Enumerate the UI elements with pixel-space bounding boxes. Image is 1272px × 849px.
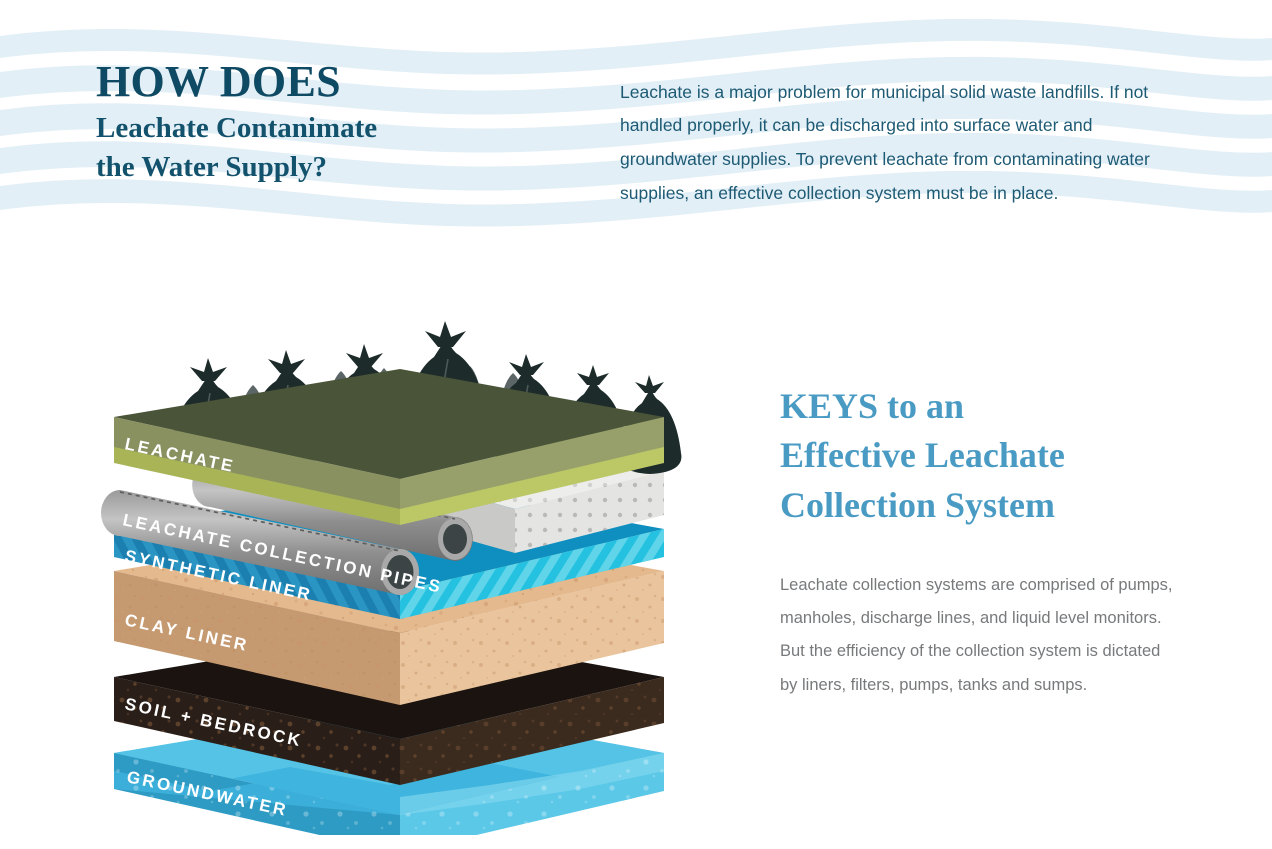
pipe-back-opening	[443, 524, 467, 554]
keys-heading-line-3: Collection System	[780, 481, 1180, 530]
keys-paragraph: Leachate collection systems are comprise…	[780, 569, 1180, 703]
intro-paragraph: Leachate is a major problem for municipa…	[620, 76, 1180, 211]
keys-heading-line-1: KEYS to an	[780, 382, 1180, 431]
keys-heading-line-2: Effective Leachate	[780, 431, 1180, 480]
header-title-line-1: Leachate Contanimate	[96, 109, 616, 148]
landfill-layers-diagram: GROUNDWATER SOIL + BEDROCK CLAY LINER	[60, 285, 720, 835]
header-heading-block: HOW DOES Leachate Contanimate the Water …	[96, 60, 616, 187]
header-title-line-2: the Water Supply?	[96, 148, 616, 187]
keys-heading: KEYS to an Effective Leachate Collection…	[780, 382, 1180, 530]
header-title: Leachate Contanimate the Water Supply?	[96, 109, 616, 187]
header-kicker: HOW DOES	[96, 60, 616, 105]
